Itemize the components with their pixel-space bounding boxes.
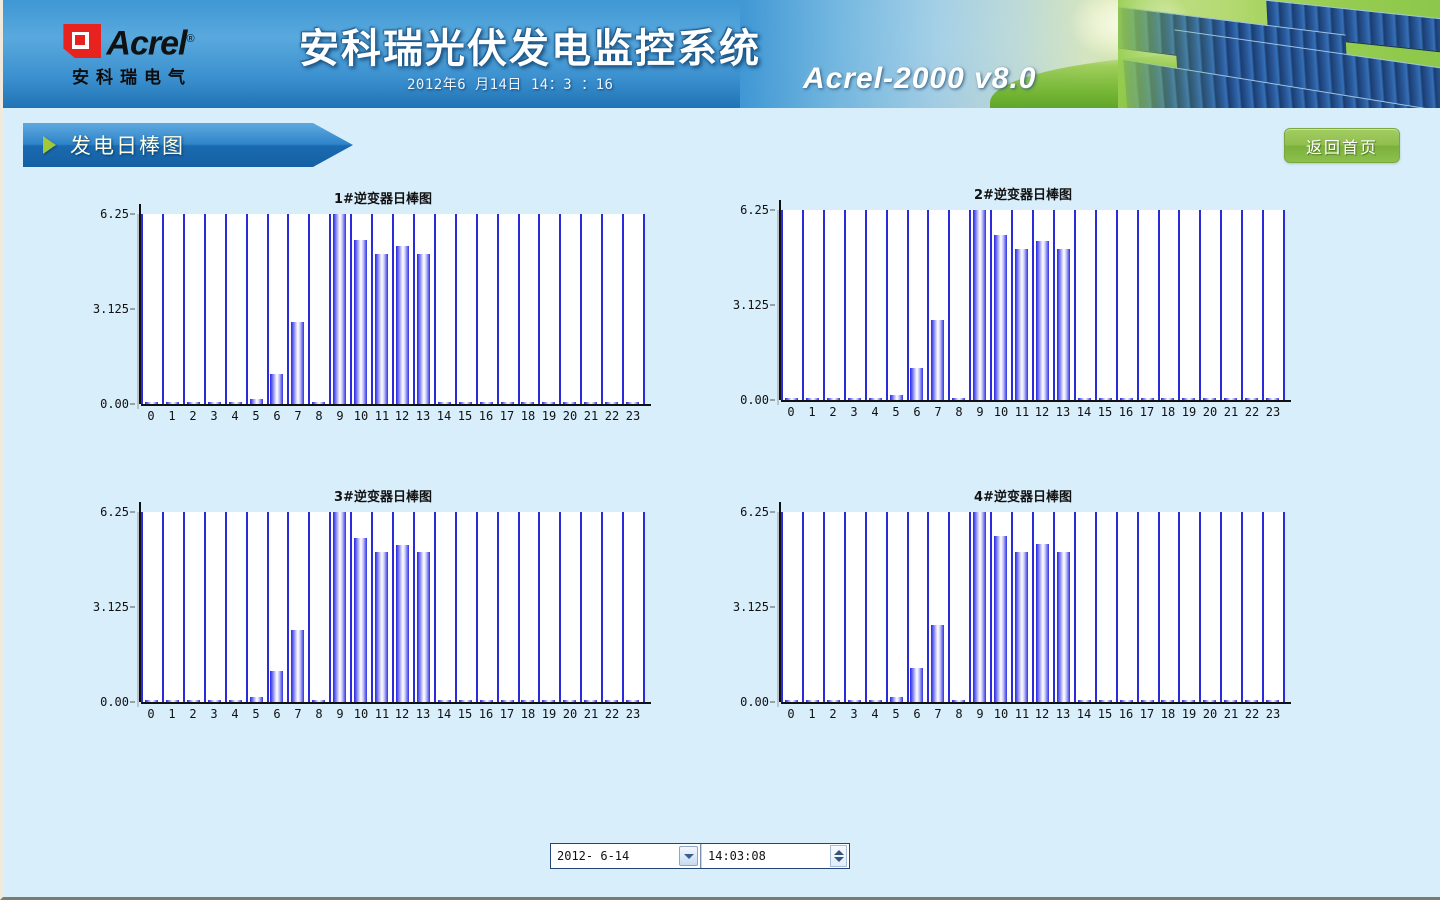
x-tick-label: 19	[1182, 707, 1196, 721]
chart-plot-container: 0.003.1256.25 01234567891011121314151617…	[703, 512, 1343, 742]
gridline	[865, 210, 867, 400]
bar	[931, 320, 944, 400]
bar	[417, 552, 430, 702]
x-tick-label: 17	[500, 707, 514, 721]
gridline	[162, 512, 164, 702]
x-tick-label: 0	[787, 707, 794, 721]
gridline	[1241, 210, 1243, 400]
x-tick-label: 12	[1035, 405, 1049, 419]
chart-panel-inverter-2: 2#逆变器日棒图 0.003.1256.25 01234567891011121…	[703, 184, 1343, 474]
x-tick-label: 4	[231, 409, 238, 423]
y-tick-label: 3.125	[733, 298, 769, 312]
bar	[931, 625, 944, 702]
x-tick-label: 13	[416, 409, 430, 423]
date-picker[interactable]: 2012- 6-14	[551, 844, 701, 868]
x-tick-label: 2	[189, 707, 196, 721]
x-tick-label: 17	[1140, 405, 1154, 419]
chart-title: 1#逆变器日棒图	[63, 188, 703, 207]
x-tick-label: 6	[273, 707, 280, 721]
y-tick-mark	[770, 210, 775, 211]
x-tick-label: 15	[1098, 405, 1112, 419]
gridline	[371, 214, 373, 404]
gridline	[823, 512, 825, 702]
plot-area	[141, 512, 643, 702]
x-tick-label: 17	[500, 409, 514, 423]
x-tick-label: 19	[542, 409, 556, 423]
x-tick-label: 0	[147, 409, 154, 423]
x-tick-label: 16	[479, 409, 493, 423]
gridline	[497, 512, 499, 702]
x-axis-line	[781, 400, 1291, 402]
gridline	[497, 214, 499, 404]
gridline	[1074, 210, 1076, 400]
x-tick-label: 18	[521, 707, 535, 721]
y-tick-mark	[130, 309, 135, 310]
x-tick-label: 16	[1119, 405, 1133, 419]
x-tick-label: 10	[354, 409, 368, 423]
y-tick-mark	[130, 214, 135, 215]
gridline	[969, 512, 971, 702]
y-axis-labels: 0.003.1256.25	[703, 512, 777, 702]
gridline	[518, 512, 520, 702]
gridline	[1032, 512, 1034, 702]
gridline	[844, 210, 846, 400]
gridline	[643, 512, 645, 702]
gridline	[601, 214, 603, 404]
gridline	[267, 512, 269, 702]
gridline	[538, 512, 540, 702]
bar	[354, 538, 367, 702]
bar	[333, 512, 346, 702]
gridline	[371, 512, 373, 702]
x-tick-label: 4	[871, 405, 878, 419]
x-tick-label: 16	[479, 707, 493, 721]
x-tick-label: 20	[1203, 405, 1217, 419]
x-tick-label: 3	[210, 409, 217, 423]
x-tick-label: 1	[168, 409, 175, 423]
acrel-logo: Acrel® 安科瑞电气	[41, 18, 216, 92]
gridline	[580, 214, 582, 404]
bar	[1057, 249, 1070, 400]
x-tick-label: 14	[437, 707, 451, 721]
x-tick-label: 0	[147, 707, 154, 721]
chart-panel-inverter-1: 1#逆变器日棒图 0.003.1256.25 01234567891011121…	[63, 188, 703, 478]
gridline	[1178, 512, 1180, 702]
gridline	[308, 512, 310, 702]
gridline	[538, 214, 540, 404]
x-tick-label: 22	[605, 707, 619, 721]
bar	[375, 254, 388, 404]
x-tick-label: 22	[1245, 405, 1259, 419]
plot-area	[781, 512, 1283, 702]
x-tick-label: 18	[1161, 707, 1175, 721]
bar	[1015, 552, 1028, 702]
y-tick-mark	[770, 607, 775, 608]
x-tick-label: 21	[584, 409, 598, 423]
y-tick-mark	[130, 702, 135, 703]
chart-title: 3#逆变器日棒图	[63, 486, 703, 505]
y-tick-mark	[770, 512, 775, 513]
gridline	[990, 210, 992, 400]
chart-plot-container: 0.003.1256.25 01234567891011121314151617…	[703, 210, 1343, 440]
bar	[417, 254, 430, 404]
gridline	[948, 512, 950, 702]
bar	[994, 235, 1007, 400]
gridline	[802, 512, 804, 702]
spinner-updown-icon[interactable]	[830, 845, 847, 867]
x-tick-label: 11	[375, 409, 389, 423]
gridline	[1116, 210, 1118, 400]
gridline	[823, 210, 825, 400]
x-tick-label: 11	[375, 707, 389, 721]
x-tick-label: 8	[315, 409, 322, 423]
gridline	[183, 512, 185, 702]
x-tick-label: 14	[437, 409, 451, 423]
y-tick-label: 3.125	[733, 600, 769, 614]
y-tick-label: 0.00	[100, 397, 129, 411]
y-tick-mark	[770, 305, 775, 306]
gridline	[225, 512, 227, 702]
gridline	[204, 214, 206, 404]
x-tick-label: 1	[808, 707, 815, 721]
bar	[396, 246, 409, 404]
gridline	[1095, 210, 1097, 400]
gridline	[141, 512, 143, 702]
y-tick-label: 6.25	[740, 203, 769, 217]
x-tick-label: 21	[1224, 405, 1238, 419]
x-tick-label: 23	[1266, 405, 1280, 419]
y-tick-label: 3.125	[93, 302, 129, 316]
bar	[291, 322, 304, 404]
gridline	[643, 214, 645, 404]
x-tick-label: 1	[168, 707, 175, 721]
gridline	[1199, 512, 1201, 702]
page-title: 发电日棒图	[70, 130, 185, 160]
bar	[291, 630, 304, 702]
gridline	[1262, 210, 1264, 400]
x-tick-label: 15	[458, 707, 472, 721]
y-tick-mark	[770, 400, 775, 401]
y-tick-label: 6.25	[740, 505, 769, 519]
x-axis-line	[141, 404, 651, 406]
gridline	[1137, 210, 1139, 400]
x-tick-label: 12	[395, 707, 409, 721]
x-tick-label: 22	[605, 409, 619, 423]
gridline	[1283, 210, 1285, 400]
x-tick-label: 7	[294, 707, 301, 721]
acrel-mark-icon	[63, 24, 101, 58]
gridline	[1283, 512, 1285, 702]
x-tick-label: 10	[994, 707, 1008, 721]
logo-word-text: Acrel	[106, 24, 186, 62]
gridline	[1053, 210, 1055, 400]
gridline	[392, 512, 394, 702]
x-tick-label: 7	[934, 405, 941, 419]
bar	[910, 368, 923, 400]
play-triangle-icon	[43, 136, 56, 154]
gridline	[601, 512, 603, 702]
bar	[270, 671, 283, 702]
gridline	[455, 214, 457, 404]
gridline	[844, 512, 846, 702]
x-tick-label: 14	[1077, 707, 1091, 721]
gridline	[886, 512, 888, 702]
x-tick-label: 7	[934, 707, 941, 721]
x-tick-label: 20	[1203, 707, 1217, 721]
gridline	[580, 512, 582, 702]
gridline	[308, 214, 310, 404]
gridline	[802, 210, 804, 400]
time-value: 14:03:08	[702, 849, 830, 863]
plot-area	[141, 214, 643, 404]
app-header: Acrel® 安科瑞电气 安科瑞光伏发电监控系统 2012年6 月14日 14：…	[3, 0, 1440, 108]
x-axis-labels: 01234567891011121314151617181920212223	[141, 409, 643, 431]
bar	[375, 552, 388, 702]
x-tick-label: 21	[1224, 707, 1238, 721]
x-tick-label: 9	[336, 707, 343, 721]
gridline	[1262, 512, 1264, 702]
gridline	[434, 512, 436, 702]
x-tick-label: 7	[294, 409, 301, 423]
x-tick-label: 4	[231, 707, 238, 721]
chart-panel-inverter-3: 3#逆变器日棒图 0.003.1256.25 01234567891011121…	[63, 486, 703, 776]
bar	[973, 210, 986, 400]
gridline	[267, 214, 269, 404]
x-tick-label: 4	[871, 707, 878, 721]
gridline	[886, 210, 888, 400]
gridline	[1011, 512, 1013, 702]
x-tick-label: 6	[913, 405, 920, 419]
plot-area	[781, 210, 1283, 400]
gridline	[1137, 512, 1139, 702]
y-tick-label: 0.00	[740, 695, 769, 709]
bar	[1057, 552, 1070, 702]
bar	[1036, 241, 1049, 400]
x-tick-label: 11	[1015, 707, 1029, 721]
bar	[333, 214, 346, 404]
x-axis-line	[141, 702, 651, 704]
y-axis-labels: 0.003.1256.25	[703, 210, 777, 400]
bar	[1036, 544, 1049, 702]
gridline	[476, 214, 478, 404]
registered-trademark-icon: ®	[186, 33, 193, 45]
x-tick-label: 9	[976, 405, 983, 419]
x-axis-labels: 01234567891011121314151617181920212223	[781, 707, 1283, 729]
gridline	[141, 214, 143, 404]
header-datetime: 2012年6 月14日 14：3 ：16	[407, 74, 613, 94]
x-tick-label: 13	[1056, 707, 1070, 721]
x-tick-label: 0	[787, 405, 794, 419]
x-tick-label: 22	[1245, 707, 1259, 721]
return-home-button[interactable]: 返回首页	[1284, 128, 1400, 163]
gridline	[413, 214, 415, 404]
x-tick-label: 8	[955, 707, 962, 721]
x-tick-label: 1	[808, 405, 815, 419]
gridline	[622, 512, 624, 702]
chart-plot-container: 0.003.1256.25 01234567891011121314151617…	[63, 512, 703, 742]
gridline	[434, 214, 436, 404]
x-tick-label: 20	[563, 409, 577, 423]
logo-company-cn: 安科瑞电气	[65, 63, 192, 88]
gridline	[1158, 210, 1160, 400]
x-tick-label: 5	[252, 409, 259, 423]
x-tick-label: 19	[542, 707, 556, 721]
x-tick-label: 21	[584, 707, 598, 721]
gridline	[1053, 512, 1055, 702]
x-tick-label: 23	[1266, 707, 1280, 721]
gridline	[476, 512, 478, 702]
gridline	[559, 214, 561, 404]
gridline	[329, 214, 331, 404]
x-tick-label: 2	[189, 409, 196, 423]
x-tick-label: 2	[829, 405, 836, 419]
y-axis-labels: 0.003.1256.25	[63, 512, 137, 702]
x-tick-label: 11	[1015, 405, 1029, 419]
x-tick-label: 20	[563, 707, 577, 721]
x-tick-label: 6	[913, 707, 920, 721]
x-tick-label: 9	[976, 707, 983, 721]
gridline	[1116, 512, 1118, 702]
x-tick-label: 12	[1035, 707, 1049, 721]
x-axis-line	[781, 702, 1291, 704]
y-tick-label: 6.25	[100, 207, 129, 221]
bar	[396, 545, 409, 702]
app-title: 安科瑞光伏发电监控系统	[299, 16, 761, 74]
gridline	[350, 512, 352, 702]
gridline	[1199, 210, 1201, 400]
gridline	[559, 512, 561, 702]
x-tick-label: 18	[521, 409, 535, 423]
gridline	[969, 210, 971, 400]
app-version: Acrel-2000 v8.0	[803, 62, 1037, 96]
gridline	[1095, 512, 1097, 702]
gridline	[162, 214, 164, 404]
gridline	[1032, 210, 1034, 400]
x-tick-label: 5	[892, 405, 899, 419]
bar	[910, 668, 923, 702]
x-tick-label: 6	[273, 409, 280, 423]
gridline	[1241, 512, 1243, 702]
chevron-down-icon[interactable]	[679, 846, 698, 866]
y-axis-labels: 0.003.1256.25	[63, 214, 137, 404]
y-tick-mark	[770, 702, 775, 703]
bar	[270, 374, 283, 404]
x-tick-label: 12	[395, 409, 409, 423]
gridline	[329, 512, 331, 702]
bar	[354, 240, 367, 404]
x-tick-label: 15	[1098, 707, 1112, 721]
gridline	[622, 214, 624, 404]
x-tick-label: 5	[252, 707, 259, 721]
navigation-bar: 发电日棒图 返回首页	[3, 108, 1440, 168]
gridline	[246, 512, 248, 702]
gridline	[1074, 512, 1076, 702]
gridline	[392, 214, 394, 404]
gridline	[287, 214, 289, 404]
gridline	[948, 210, 950, 400]
chart-plot-container: 0.003.1256.25 01234567891011121314151617…	[63, 214, 703, 444]
x-tick-label: 10	[354, 707, 368, 721]
y-tick-mark	[130, 512, 135, 513]
x-tick-label: 16	[1119, 707, 1133, 721]
y-tick-mark	[130, 607, 135, 608]
gridline	[246, 214, 248, 404]
time-picker[interactable]: 14:03:08	[701, 844, 849, 868]
gridline	[225, 214, 227, 404]
chart-panel-inverter-4: 4#逆变器日棒图 0.003.1256.25 01234567891011121…	[703, 486, 1343, 776]
page-title-banner[interactable]: 发电日棒图	[23, 123, 353, 167]
gridline	[350, 214, 352, 404]
chart-title: 2#逆变器日棒图	[703, 184, 1343, 203]
x-tick-label: 15	[458, 409, 472, 423]
bar	[994, 536, 1007, 702]
gridline	[183, 214, 185, 404]
x-tick-label: 2	[829, 707, 836, 721]
x-tick-label: 13	[416, 707, 430, 721]
x-tick-label: 14	[1077, 405, 1091, 419]
date-value: 2012- 6-14	[551, 849, 679, 863]
x-axis-labels: 01234567891011121314151617181920212223	[141, 707, 643, 729]
y-tick-mark	[130, 404, 135, 405]
x-tick-label: 10	[994, 405, 1008, 419]
x-tick-label: 3	[210, 707, 217, 721]
bar	[973, 512, 986, 702]
gridline	[781, 512, 783, 702]
x-tick-label: 23	[626, 409, 640, 423]
x-tick-label: 18	[1161, 405, 1175, 419]
gridline	[1158, 512, 1160, 702]
x-tick-label: 3	[850, 707, 857, 721]
x-tick-label: 8	[955, 405, 962, 419]
y-tick-label: 0.00	[740, 393, 769, 407]
gridline	[865, 512, 867, 702]
gridline	[781, 210, 783, 400]
gridline	[1178, 210, 1180, 400]
x-tick-label: 17	[1140, 707, 1154, 721]
x-tick-label: 5	[892, 707, 899, 721]
logo-wordmark-row: Acrel®	[63, 22, 193, 60]
gridline	[927, 210, 929, 400]
x-tick-label: 23	[626, 707, 640, 721]
gridline	[1220, 210, 1222, 400]
x-tick-label: 8	[315, 707, 322, 721]
gridline	[990, 512, 992, 702]
x-tick-label: 13	[1056, 405, 1070, 419]
gridline	[287, 512, 289, 702]
gridline	[927, 512, 929, 702]
y-tick-label: 0.00	[100, 695, 129, 709]
gridline	[413, 512, 415, 702]
chart-title: 4#逆变器日棒图	[703, 486, 1343, 505]
bar	[1015, 249, 1028, 400]
x-axis-labels: 01234567891011121314151617181920212223	[781, 405, 1283, 427]
y-tick-label: 3.125	[93, 600, 129, 614]
gridline	[518, 214, 520, 404]
gridline	[907, 210, 909, 400]
y-tick-label: 6.25	[100, 505, 129, 519]
x-tick-label: 3	[850, 405, 857, 419]
gridline	[907, 512, 909, 702]
gridline	[1011, 210, 1013, 400]
x-tick-label: 9	[336, 409, 343, 423]
gridline	[455, 512, 457, 702]
chart-grid: 1#逆变器日棒图 0.003.1256.25 01234567891011121…	[3, 168, 1440, 768]
photo-blend-overlay	[1118, 0, 1440, 108]
x-tick-label: 19	[1182, 405, 1196, 419]
gridline	[204, 512, 206, 702]
gridline	[1220, 512, 1222, 702]
date-time-toolbar: 2012- 6-14 14:03:08	[550, 843, 850, 869]
